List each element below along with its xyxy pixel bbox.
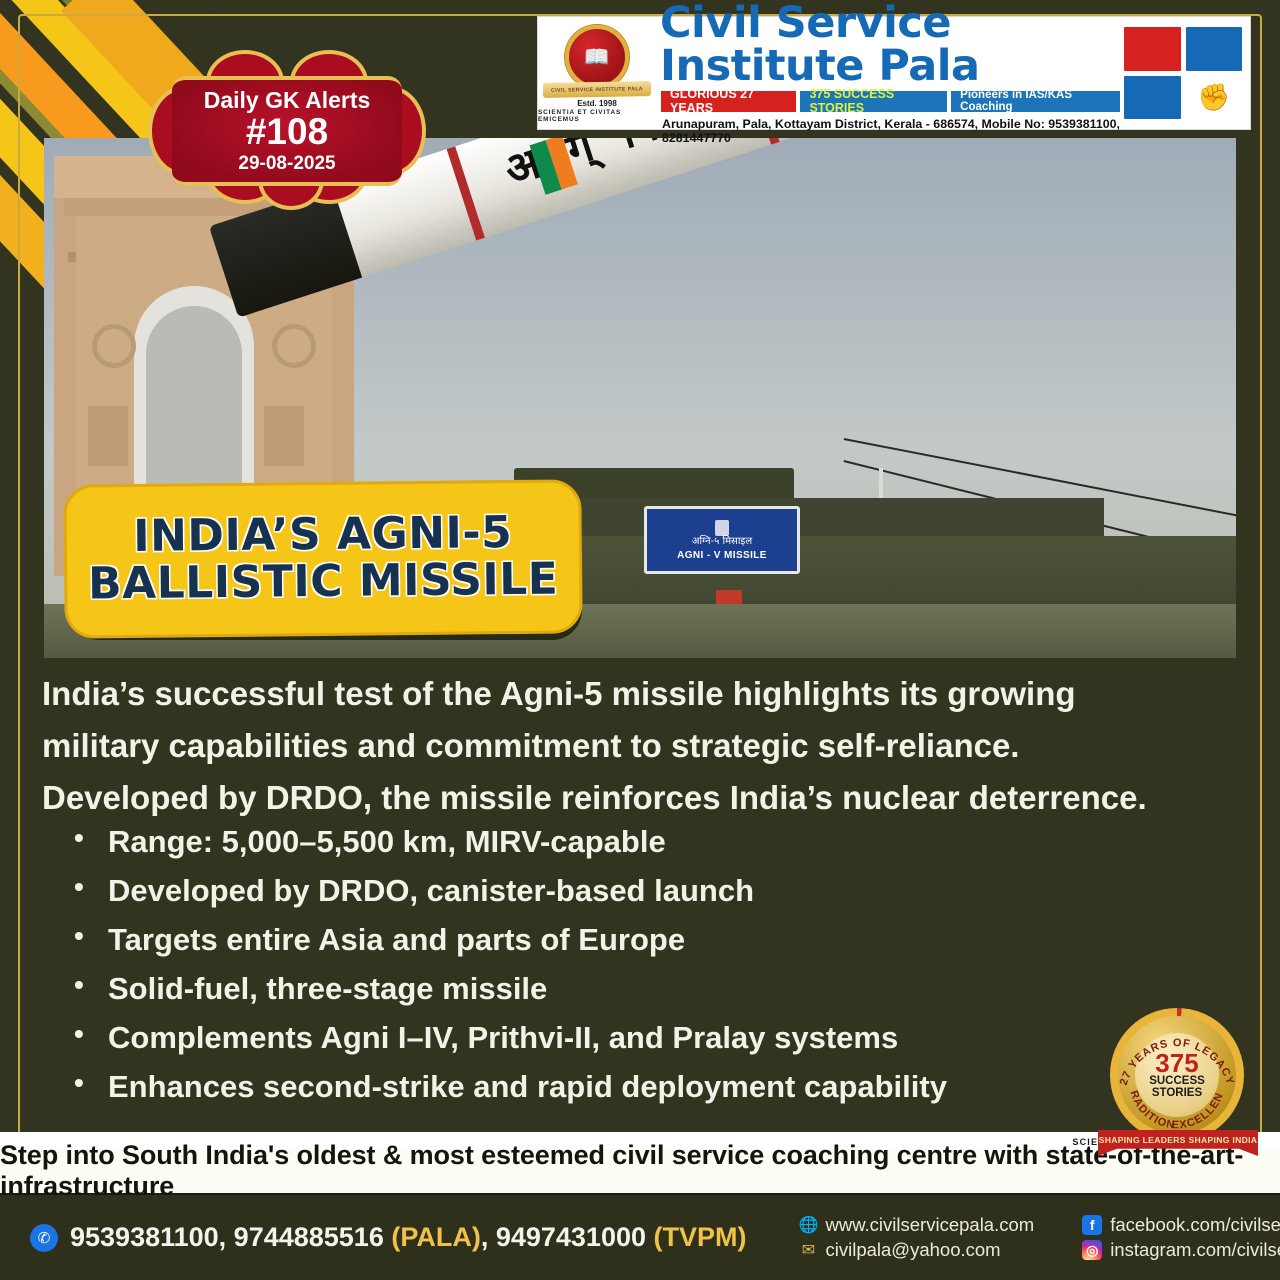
tagline-text: Step into South India's oldest & most es…: [0, 1140, 1280, 1202]
phone-icon: ✆: [30, 1224, 58, 1252]
sign-hindi: अग्नि-५ मिसाइल: [692, 537, 752, 547]
title-line-2: BALLISTIC MISSILE: [88, 557, 559, 609]
svg-text:27 YEARS OF LEGACY: 27 YEARS OF LEGACY: [1118, 1037, 1236, 1087]
phones-tvpm-label: (TVPM): [654, 1222, 747, 1252]
footer-phone-block: ✆ 9539381100, 9744885516 (PALA), 9497431…: [30, 1222, 746, 1253]
envelope-icon: ✉: [798, 1240, 818, 1260]
paragraph-line-2: military capabilities and commitment to …: [42, 720, 1238, 772]
footer-facebook-row[interactable]: f facebook.com/civilservicepala: [1082, 1214, 1280, 1236]
footer-website-row[interactable]: 🌐 www.civilservicepala.com: [798, 1214, 1034, 1236]
globe-icon: 🌐: [798, 1215, 818, 1235]
list-item: Range: 5,000–5,500 km, MIRV-capable: [66, 818, 1146, 867]
tag-success-stories: 375 SUCCESS STORIES: [800, 91, 947, 112]
emblem-motto: SCIENTIA ET CIVITAS EMICEMUS: [538, 109, 656, 123]
list-item: Complements Agni I–IV, Prithvi-II, and P…: [66, 1014, 1146, 1063]
paragraph-line-1: India’s successful test of the Agni-5 mi…: [42, 668, 1238, 720]
emblem-icon: [715, 520, 729, 536]
institute-name: Civil Service Institute Pala: [660, 2, 1120, 88]
institute-logo-banner: 📖 CIVIL SERVICE INSTITUTE PALA Estd. 199…: [537, 16, 1251, 130]
title-banner: INDIA’S AGNI‑5 BALLISTIC MISSILE: [63, 479, 583, 638]
footer-email-row[interactable]: ✉ civilpala@yahoo.com: [798, 1239, 1034, 1261]
tag-pioneers: Pioneers in IAS/KAS Coaching: [951, 91, 1120, 112]
institute-address: Arunapuram, Pala, Kottayam District, Ker…: [662, 117, 1120, 145]
footer-facebook: facebook.com/civilservicepala: [1110, 1214, 1280, 1236]
institute-emblem: 📖 CIVIL SERVICE INSTITUTE PALA Estd. 199…: [538, 17, 656, 129]
footer-web-block: 🌐 www.civilservicepala.com ✉ civilpala@y…: [798, 1214, 1034, 1261]
logo-square-grid: ✊: [1124, 17, 1250, 129]
sign-english: AGNI - V MISSILE: [677, 550, 767, 561]
key-points-list: Range: 5,000–5,500 km, MIRV-capable Deve…: [66, 818, 1146, 1112]
paragraph-line-3: Developed by DRDO, the missile reinforce…: [42, 772, 1238, 824]
emblem-ribbon: CIVIL SERVICE INSTITUTE PALA: [543, 81, 651, 98]
logo-square-blue-1: [1186, 27, 1243, 71]
success-stories-seal: 375 SUCCESS STORIES 27 YEARS OF LEGACY T…: [1098, 1008, 1258, 1158]
list-item: Targets entire Asia and parts of Europe: [66, 916, 1146, 965]
list-item: Developed by DRDO, canister-based launch: [66, 867, 1146, 916]
list-item: Solid-fuel, three-stage missile: [66, 965, 1146, 1014]
missile-name-sign: अग्नि-५ मिसाइल AGNI - V MISSILE: [644, 506, 800, 574]
facebook-icon: f: [1082, 1215, 1102, 1235]
badge-date: 29-08-2025: [238, 154, 335, 173]
book-torch-emblem-icon: 📖: [565, 25, 629, 89]
tagline-bar: Step into South India's oldest & most es…: [0, 1149, 1280, 1195]
phones-part-1: 9539381100, 9744885516: [70, 1222, 391, 1252]
footer-instagram-row[interactable]: ◎ instagram.com/civilservicepala: [1082, 1239, 1280, 1261]
footer-phone-numbers: 9539381100, 9744885516 (PALA), 949743100…: [70, 1222, 746, 1253]
footer-social-block: f facebook.com/civilservicepala ◎ instag…: [1082, 1214, 1280, 1261]
list-item: Enhances second-strike and rapid deploym…: [66, 1063, 1146, 1112]
seal-arc-text: 27 YEARS OF LEGACY TRADITION EXCELLENCE: [1112, 1016, 1242, 1146]
instagram-icon: ◎: [1082, 1240, 1102, 1260]
seal-arc-top: 27 YEARS OF LEGACY: [1118, 1037, 1236, 1087]
daily-gk-badge: Daily GK Alerts #108 29-08-2025: [162, 62, 412, 192]
seal-ribbon-text: SHAPING LEADERS SHAPING INDIA: [1099, 1135, 1258, 1145]
logo-square-blue-2: [1124, 76, 1181, 120]
tag-glorious-years: GLORIOUS 27 YEARS: [661, 91, 796, 112]
footer-contact-bar: ✆ 9539381100, 9744885516 (PALA), 9497431…: [0, 1195, 1280, 1280]
badge-number: #108: [246, 113, 328, 152]
footer-email: civilpala@yahoo.com: [825, 1239, 1000, 1261]
title-line-1: INDIA’S AGNI‑5: [133, 510, 513, 561]
fist-wave-icon: ✊: [1186, 76, 1243, 120]
emblem-estd: Estd. 1998: [577, 99, 617, 108]
phones-part-2: , 9497431000: [481, 1222, 654, 1252]
footer-instagram: instagram.com/civilservicepala: [1110, 1239, 1280, 1261]
badge-title: Daily GK Alerts: [204, 89, 371, 112]
logo-tag-strip: GLORIOUS 27 YEARS 375 SUCCESS STORIES Pi…: [661, 91, 1120, 112]
logo-square-red: [1124, 27, 1181, 71]
footer-website: www.civilservicepala.com: [825, 1214, 1034, 1236]
phones-pala-label: (PALA): [391, 1222, 480, 1252]
summary-paragraph: India’s successful test of the Agni-5 mi…: [42, 668, 1238, 823]
